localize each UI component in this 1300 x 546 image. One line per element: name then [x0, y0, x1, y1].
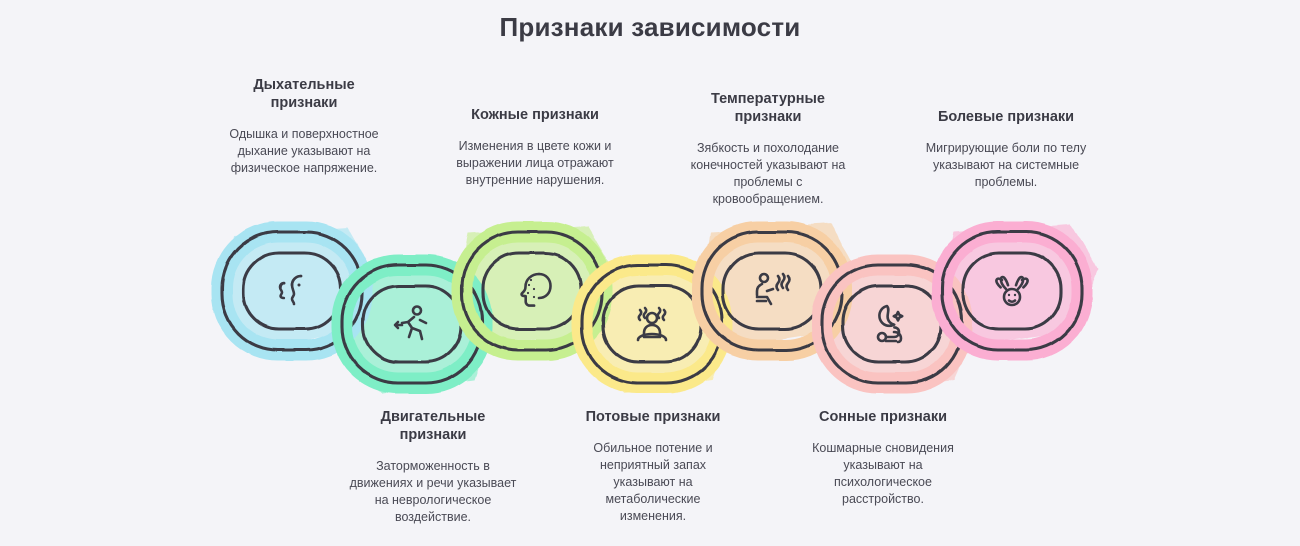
caption-body: Кошмарные сновидения указывают на психол… — [797, 440, 969, 508]
chain-diagram — [198, 215, 1108, 400]
caption-body: Заторможенность в движениях и речи указы… — [348, 458, 518, 526]
caption-sleep: Сонные признаки Кошмарные сновидения ука… — [797, 408, 969, 508]
infographic-page: Признаки зависимости Дыхательные признак… — [0, 0, 1300, 546]
caption-body: Мигрирующие боли по телу указывают на си… — [922, 140, 1090, 191]
caption-motor: Двигательные признаки Заторможенность в … — [348, 408, 518, 526]
caption-pain: Болевые признаки Мигрирующие боли по тел… — [922, 108, 1090, 191]
page-title: Признаки зависимости — [0, 12, 1300, 43]
caption-breathing: Дыхательные признаки Одышка и поверхност… — [225, 76, 383, 177]
caption-body: Зябкость и похолодание конечностей указы… — [678, 140, 858, 208]
caption-title: Болевые признаки — [922, 108, 1090, 126]
caption-body: Одышка и поверхностное дыхание указывают… — [225, 126, 383, 177]
caption-title: Температурные признаки — [678, 90, 858, 126]
caption-title: Двигательные признаки — [348, 408, 518, 444]
caption-body: Изменения в цвете кожи и выражении лица … — [452, 138, 618, 189]
chain-svg — [198, 215, 1108, 400]
caption-temperature: Температурные признаки Зябкость и похоло… — [678, 90, 858, 208]
caption-sweat: Потовые признаки Обильное потение и непр… — [575, 408, 731, 525]
caption-title: Потовые признаки — [575, 408, 731, 426]
caption-title: Сонные признаки — [797, 408, 969, 426]
caption-title: Дыхательные признаки — [225, 76, 383, 112]
caption-title: Кожные признаки — [452, 106, 618, 124]
caption-body: Обильное потение и неприятный запах указ… — [575, 440, 731, 525]
caption-skin: Кожные признаки Изменения в цвете кожи и… — [452, 106, 618, 189]
